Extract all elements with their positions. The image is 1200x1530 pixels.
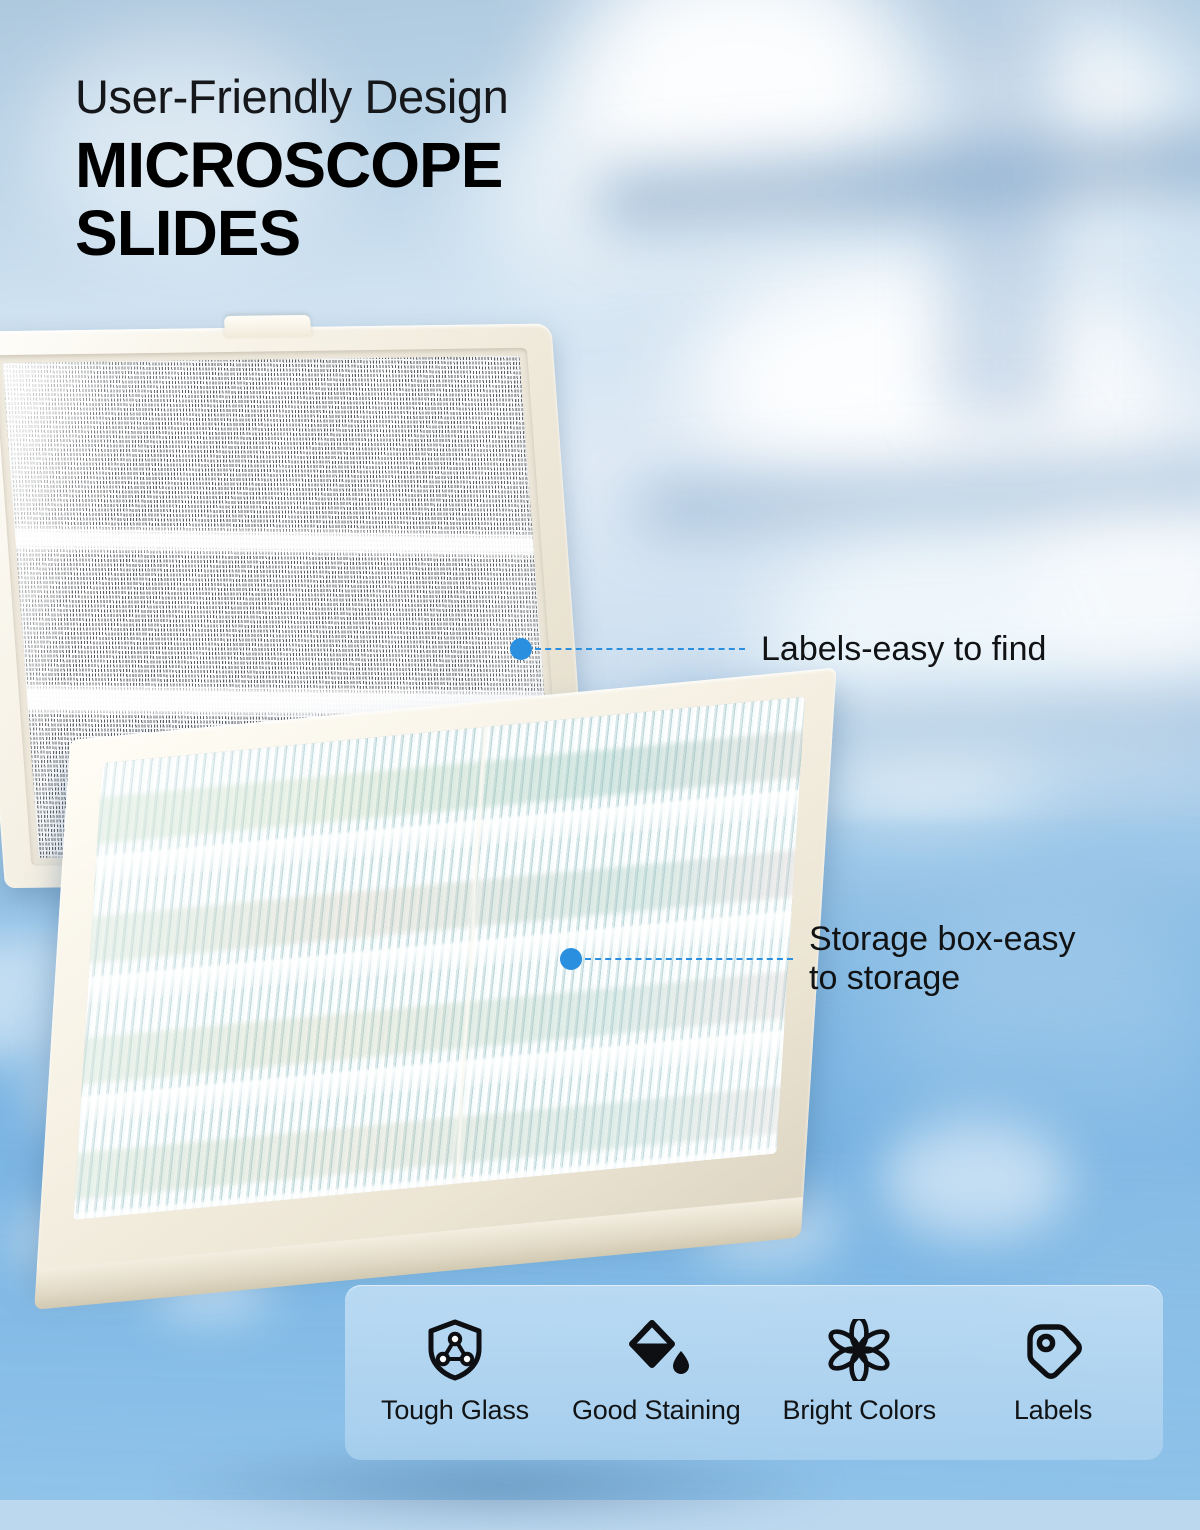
feature-label: Bright Colors bbox=[783, 1395, 936, 1426]
headline-block: User-Friendly Design MICROSCOPE SLIDES bbox=[75, 72, 775, 267]
tag-icon bbox=[1022, 1319, 1084, 1381]
title-line-1: MICROSCOPE bbox=[75, 129, 502, 201]
feature-bright-colors: Bright Colors bbox=[783, 1319, 936, 1426]
page-title: MICROSCOPE SLIDES bbox=[75, 132, 775, 268]
feature-label: Labels bbox=[1014, 1395, 1092, 1426]
shelf-band bbox=[940, 0, 1060, 420]
lid-latch bbox=[224, 315, 312, 338]
callout-leader-line bbox=[535, 648, 745, 650]
callout-storage: Storage box-easy to storage bbox=[560, 920, 1076, 998]
feature-labels: Labels bbox=[978, 1319, 1128, 1426]
product-image bbox=[0, 300, 900, 1290]
subtitle: User-Friendly Design bbox=[75, 72, 775, 122]
shield-molecule-icon bbox=[425, 1319, 485, 1381]
paint-drop-icon bbox=[621, 1319, 691, 1381]
callout-label-text: Labels-easy to find bbox=[761, 630, 1046, 669]
callout-dot-icon bbox=[560, 948, 582, 970]
feature-bar: Tough Glass Good Staining bbox=[345, 1285, 1163, 1460]
bokeh-reflection bbox=[880, 1120, 1070, 1240]
feature-good-staining: Good Staining bbox=[572, 1319, 741, 1426]
callout-leader-line bbox=[585, 958, 793, 960]
callout-storage-text: Storage box-easy to storage bbox=[809, 920, 1076, 998]
feature-label: Tough Glass bbox=[381, 1395, 529, 1426]
callout-dot-icon bbox=[510, 638, 532, 660]
flower-icon bbox=[828, 1319, 890, 1381]
feature-tough-glass: Tough Glass bbox=[380, 1319, 530, 1426]
title-line-2: SLIDES bbox=[75, 200, 775, 268]
feature-label: Good Staining bbox=[572, 1395, 741, 1426]
callout-labels: Labels-easy to find bbox=[510, 630, 1046, 669]
